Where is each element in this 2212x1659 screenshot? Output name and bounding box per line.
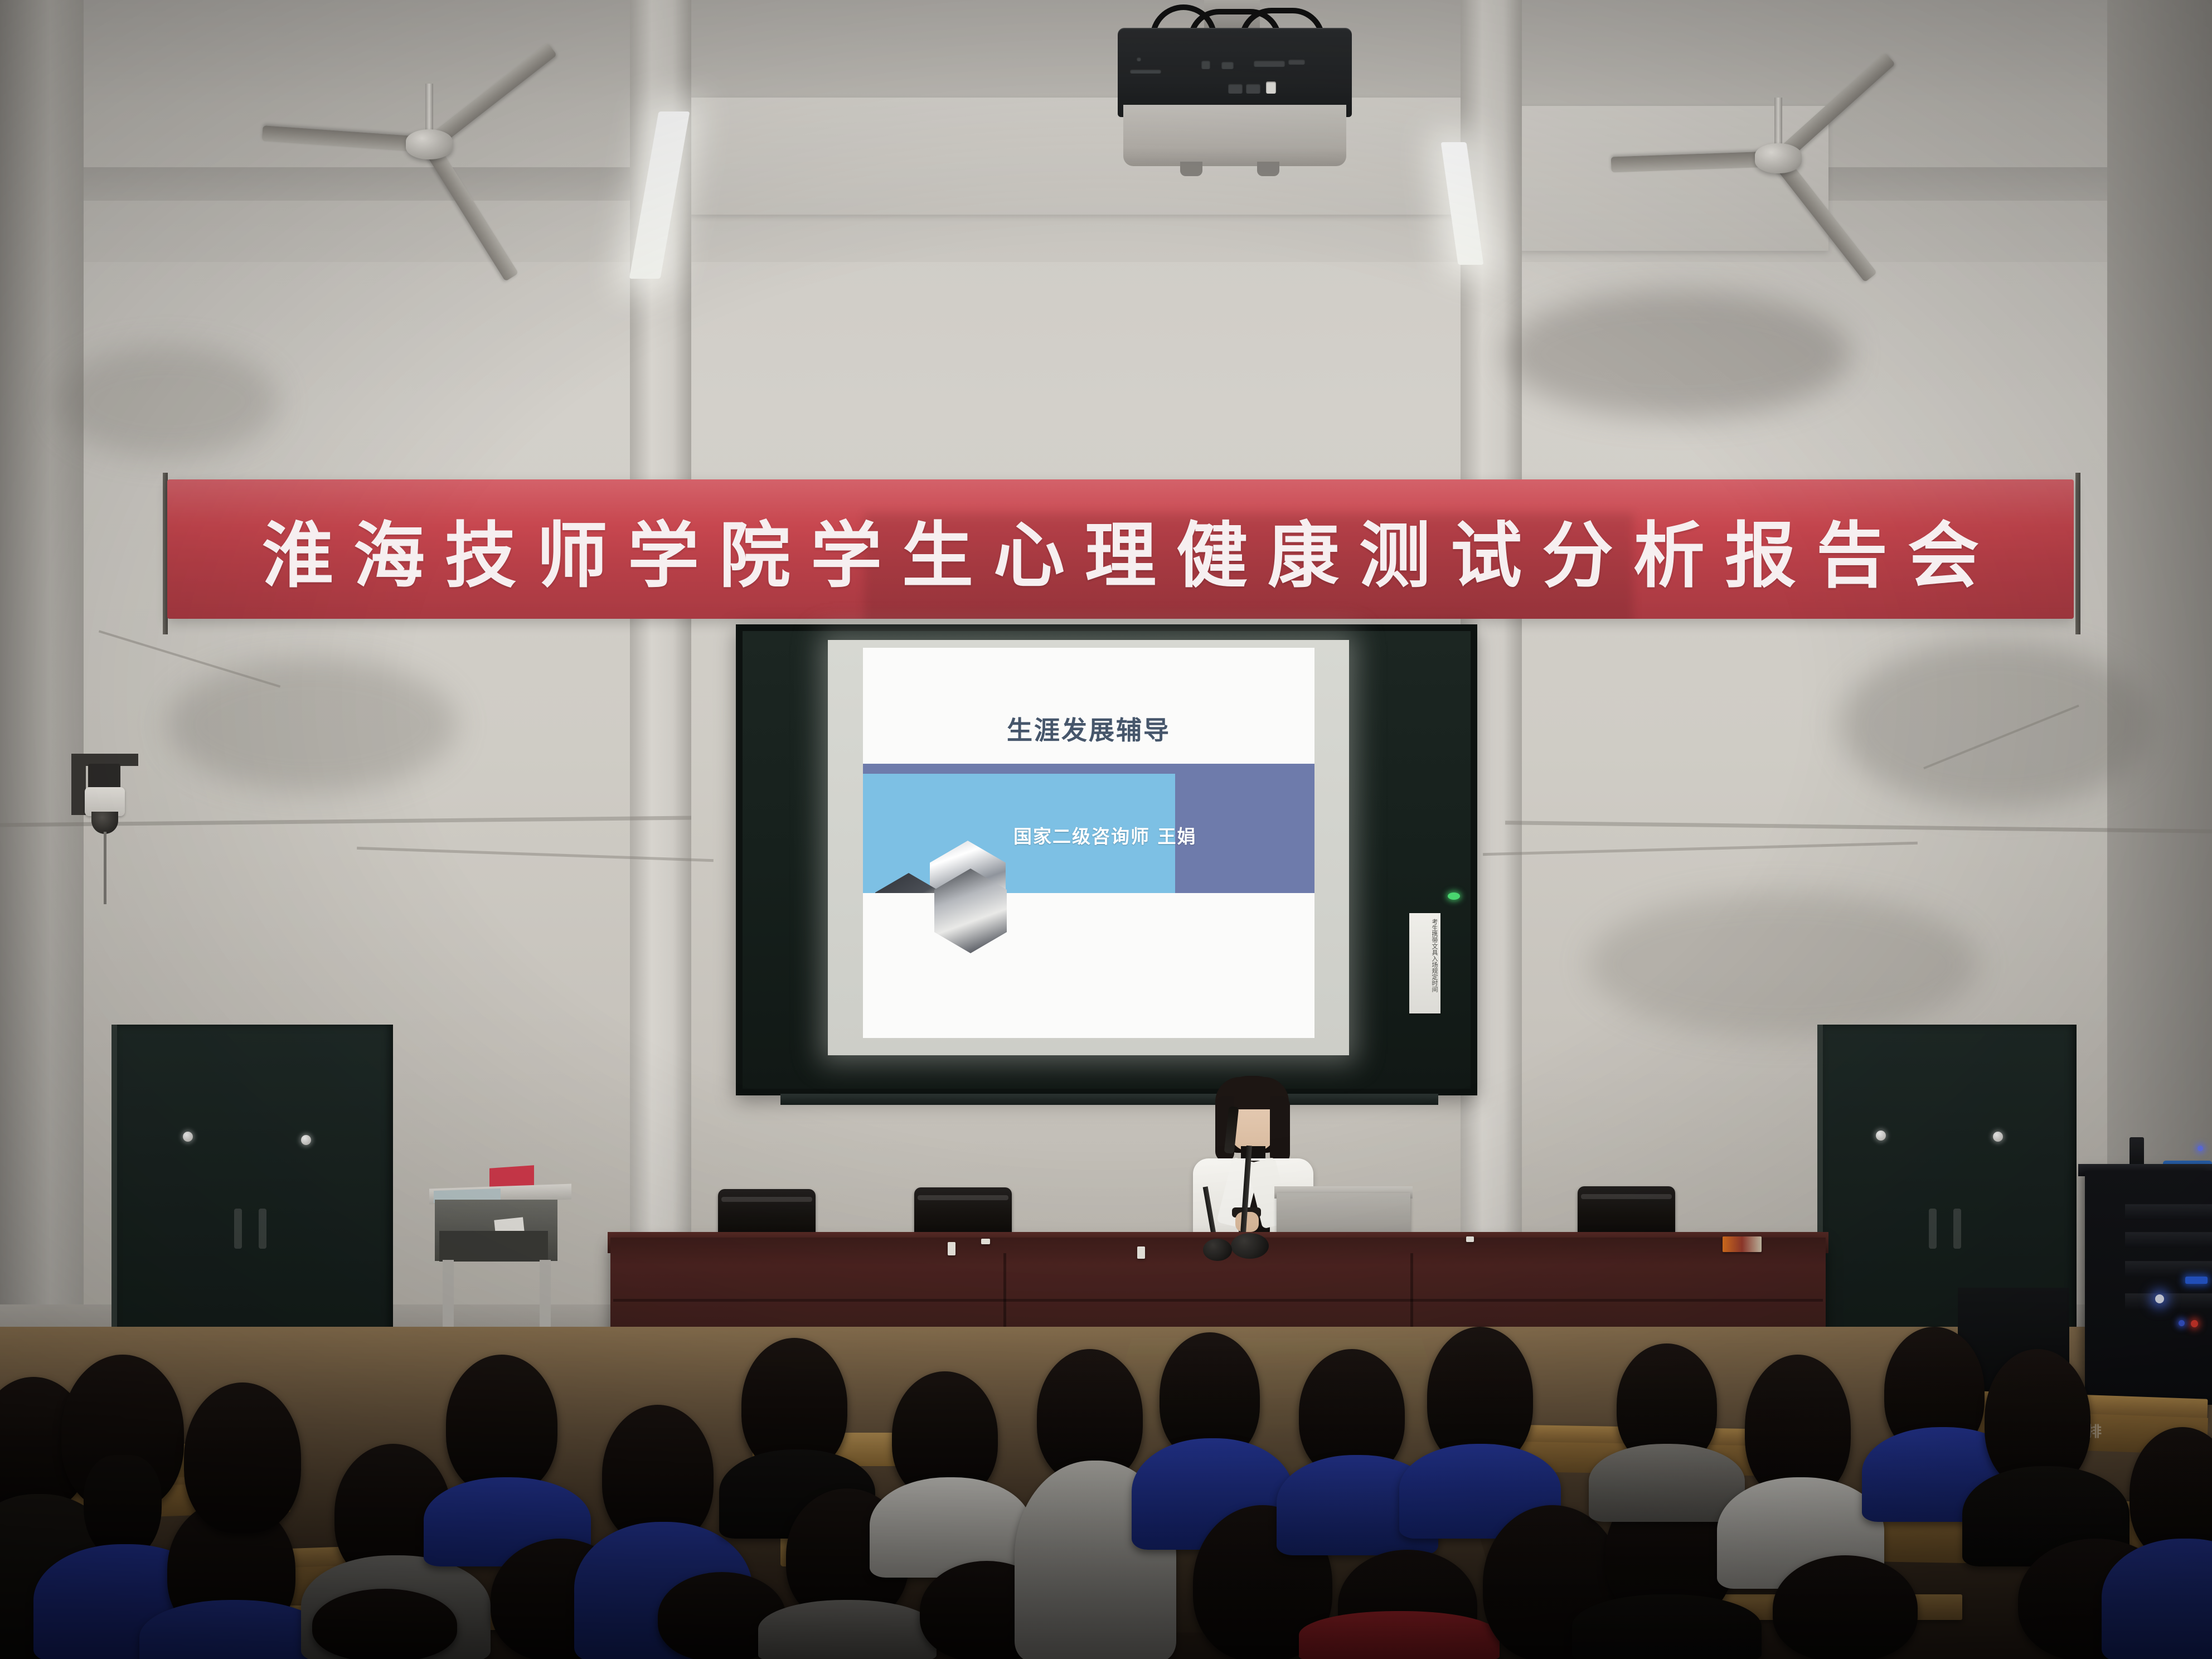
stage-pen-cup <box>1723 1236 1762 1252</box>
side-metal-desk <box>429 1165 571 1332</box>
door-knob[interactable] <box>301 1135 311 1145</box>
slide-title: 生涯发展辅导 <box>863 710 1314 747</box>
posted-notice: 考生携带文具入场规定时间 <box>1409 913 1440 1013</box>
exit-door-left[interactable] <box>111 1025 393 1348</box>
stage-paper-scrap <box>948 1242 955 1255</box>
door-knob[interactable] <box>1993 1132 2003 1142</box>
microphone-head[interactable] <box>1231 1233 1269 1259</box>
projector-foot <box>1257 162 1279 176</box>
projector-port <box>1201 60 1210 69</box>
board-status-led <box>1448 892 1460 900</box>
dome-security-camera <box>71 754 144 854</box>
event-banner: 淮海技师学院学生心理健康测试分析报告会 <box>151 468 2090 636</box>
projector-port <box>1254 60 1285 67</box>
slide-footer <box>863 893 1314 1038</box>
projector-port <box>1130 69 1161 74</box>
stage-groove <box>613 1299 1823 1302</box>
rack-led-white <box>2155 1294 2164 1303</box>
rack-led-red <box>2191 1320 2198 1327</box>
door-handles[interactable] <box>222 1209 289 1259</box>
microphone-head[interactable] <box>1203 1239 1232 1261</box>
wall-stain-3 <box>1840 641 2152 808</box>
slide-presenter-line: 国家二级咨询师 王娟 <box>1013 822 1197 848</box>
blackboard-chalk-tray <box>780 1094 1438 1105</box>
wall-column-far-left <box>0 0 84 1371</box>
fan-rod <box>425 84 433 134</box>
stage-paper-scrap <box>981 1239 990 1244</box>
lecture-hall-photo: 淮海技师学院学生心理健康测试分析报告会 生涯发展辅导 国家二级咨询师 王娟 考生… <box>0 0 2212 1659</box>
audience-body <box>1589 1444 1745 1522</box>
desk-panel <box>439 1231 548 1262</box>
audience-body <box>870 1477 1031 1578</box>
presentation-slide: 生涯发展辅导 国家二级咨询师 王娟 <box>863 648 1314 1038</box>
desk-leg <box>443 1260 454 1332</box>
ceiling-fan-right <box>1706 98 1851 220</box>
rack-led-top <box>2198 1146 2203 1151</box>
projector-port <box>1246 84 1260 94</box>
rack-led-blue <box>2185 1277 2208 1284</box>
rack-unit <box>2125 1232 2212 1248</box>
projector-port <box>1137 57 1141 61</box>
stage-paper-scrap <box>1466 1236 1474 1242</box>
rack-unit <box>2125 1261 2212 1277</box>
audience-body <box>1572 1594 1762 1659</box>
camera-cable <box>104 832 106 904</box>
banner-title-text: 淮海技师学院学生心理健康测试分析报告会 <box>242 498 1999 601</box>
fan-hub <box>406 129 453 159</box>
camera-lens-dome <box>91 812 118 834</box>
audience-head <box>184 1382 301 1533</box>
presenter-hair-right <box>1270 1096 1290 1165</box>
rack-unit <box>2125 1293 2212 1309</box>
projector-port <box>1266 81 1276 94</box>
projector-port <box>1221 61 1234 69</box>
wall-stain-1 <box>1505 290 1851 418</box>
camera-neck <box>88 764 120 790</box>
audience-head <box>446 1355 557 1494</box>
door-handles[interactable] <box>1917 1209 1983 1259</box>
banner-rod-right <box>2075 473 2080 634</box>
ceiling-slab-center <box>647 98 1494 215</box>
door-knob[interactable] <box>183 1132 193 1142</box>
projector-port <box>1288 59 1305 65</box>
door-knob[interactable] <box>1876 1131 1886 1141</box>
wall-stain-2 <box>167 658 457 792</box>
slide-header: 生涯发展辅导 <box>863 648 1314 764</box>
stage-paper-scrap <box>1137 1246 1145 1259</box>
rack-led-indigo <box>2179 1320 2185 1326</box>
projector-port <box>1228 84 1243 94</box>
projector-body <box>1123 105 1346 166</box>
fan-rod <box>1774 98 1782 148</box>
wall-stain-4 <box>56 346 279 457</box>
banner-cloth: 淮海技师学院学生心理健康测试分析报告会 <box>167 479 2074 619</box>
wall-stain-5 <box>1589 892 1979 1037</box>
audience-body <box>1299 1611 1500 1659</box>
desk-leg <box>540 1260 551 1332</box>
fan-hub <box>1755 143 1802 173</box>
audience-head <box>312 1589 457 1659</box>
stage-chair[interactable] <box>1578 1186 1675 1239</box>
rack-unit <box>2125 1204 2212 1220</box>
slide-color-band: 国家二级咨询师 王娟 <box>863 764 1314 893</box>
projector-io-panel <box>1118 28 1352 117</box>
ceiling-fan-left <box>357 84 502 206</box>
audience-body <box>758 1600 937 1659</box>
projector-foot <box>1180 162 1202 176</box>
audience-head <box>1773 1555 1918 1659</box>
ceiling-projector <box>1107 6 1363 145</box>
